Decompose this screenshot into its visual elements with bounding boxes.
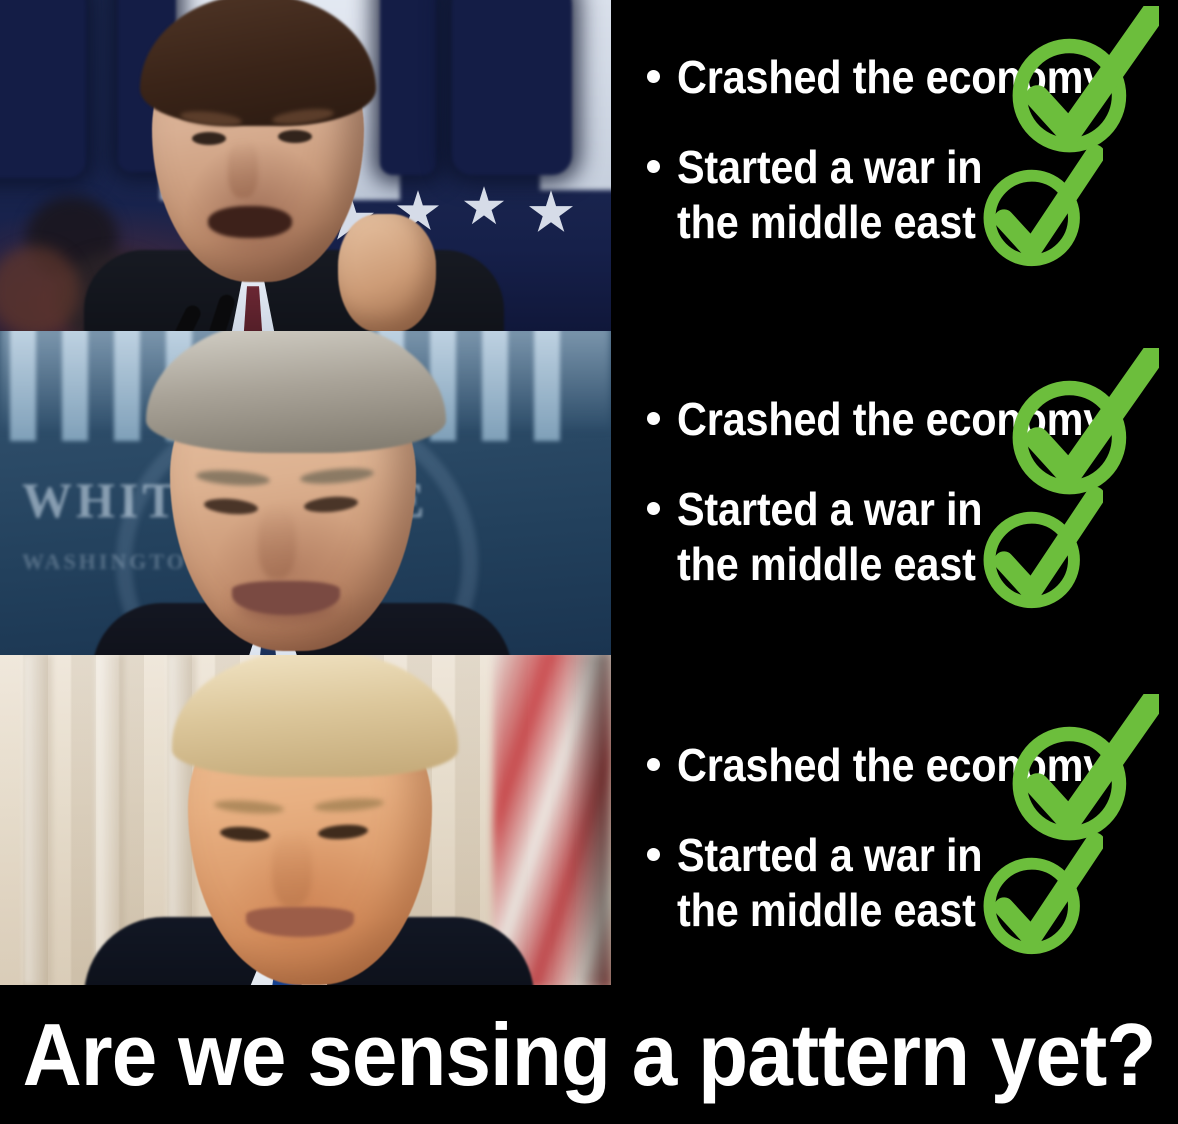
bullet-block-panel-3: Crashed the economy Started a war in the… — [611, 738, 1178, 937]
photo-column: WHITE HOUSE WASHINGTON — [0, 0, 611, 985]
bullet-label: Crashed the economy — [677, 392, 1106, 446]
bullet-item: Started a war in the middle east — [611, 828, 1178, 937]
nose — [272, 833, 312, 907]
backdrop-pillar — [482, 331, 508, 441]
bullet-label: Started a war in the middle east — [677, 828, 982, 937]
banner-letter-h — [452, 0, 572, 175]
bullet-dot-icon — [647, 502, 660, 515]
bullet-dot-icon — [647, 412, 660, 425]
raised-fist — [338, 214, 436, 331]
photo-panel-bush-sr — [0, 0, 611, 331]
banner-letter-b — [0, 0, 86, 178]
bullet-column: Crashed the economy Started a war in the… — [611, 0, 1178, 985]
bullet-label: Started a war in the middle east — [677, 482, 982, 591]
bullet-block-panel-1: Crashed the economy Started a war in the… — [611, 50, 1178, 249]
eye-left — [192, 132, 226, 145]
bullet-label: Started a war in the middle east — [677, 140, 982, 249]
drape-fold — [24, 655, 52, 985]
caption-bar: Are we sensing a pattern yet? — [0, 985, 1178, 1124]
bullet-item: Crashed the economy — [611, 392, 1178, 446]
backdrop-pillar — [534, 331, 560, 441]
bullet-dot-icon — [647, 758, 660, 771]
eye-right — [278, 130, 312, 143]
bullet-item: Crashed the economy — [611, 50, 1178, 104]
nose — [228, 140, 258, 198]
backdrop-pillar — [62, 331, 88, 441]
photo-panel-trump — [0, 655, 611, 985]
flag-shadow — [567, 655, 611, 985]
mouth — [208, 206, 292, 238]
bullet-block-panel-2: Crashed the economy Started a war in the… — [611, 392, 1178, 591]
bullet-item: Started a war in the middle east — [611, 482, 1178, 591]
nose — [258, 507, 296, 579]
bullet-item: Started a war in the middle east — [611, 140, 1178, 249]
caption-text: Are we sensing a pattern yet? — [23, 1011, 1156, 1099]
bullet-label: Crashed the economy — [677, 50, 1106, 104]
bullet-dot-icon — [647, 848, 660, 861]
backdrop-text-washington: WASHINGTON — [22, 549, 206, 575]
hair — [146, 331, 446, 453]
meme-image: WHITE HOUSE WASHINGTON — [0, 0, 1178, 1124]
bullet-item: Crashed the economy — [611, 738, 1178, 792]
backdrop-pillar — [10, 331, 36, 441]
photo-panel-bush-jr: WHITE HOUSE WASHINGTON — [0, 331, 611, 655]
backdrop-pillar — [114, 331, 140, 441]
bullet-label: Crashed the economy — [677, 738, 1106, 792]
bullet-dot-icon — [647, 160, 660, 173]
bullet-dot-icon — [647, 70, 660, 83]
banner-letter-s — [380, 0, 436, 175]
